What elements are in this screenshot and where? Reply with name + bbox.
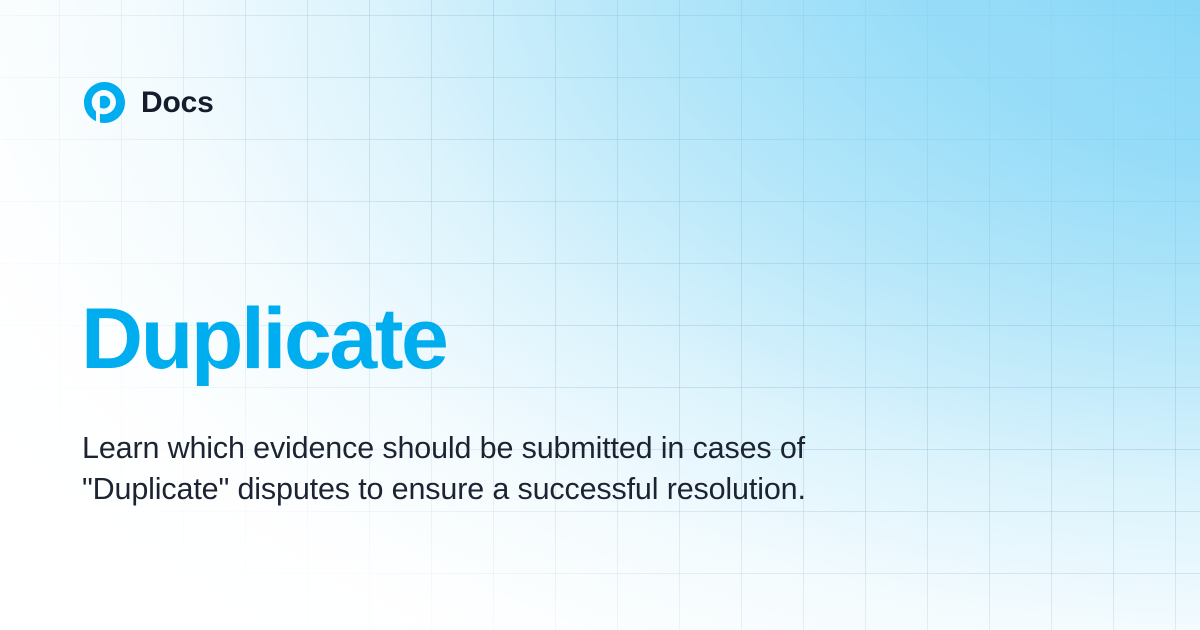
page-title: Duplicate (81, 296, 446, 382)
page-description: Learn which evidence should be submitted… (82, 428, 842, 510)
brand-lockup: Docs (84, 82, 214, 123)
card-content: Docs Duplicate Learn which evidence shou… (0, 0, 1200, 630)
brand-name-label: Docs (141, 88, 214, 118)
social-card: Docs Duplicate Learn which evidence shou… (0, 0, 1200, 630)
primer-p-logo-icon (84, 82, 125, 123)
